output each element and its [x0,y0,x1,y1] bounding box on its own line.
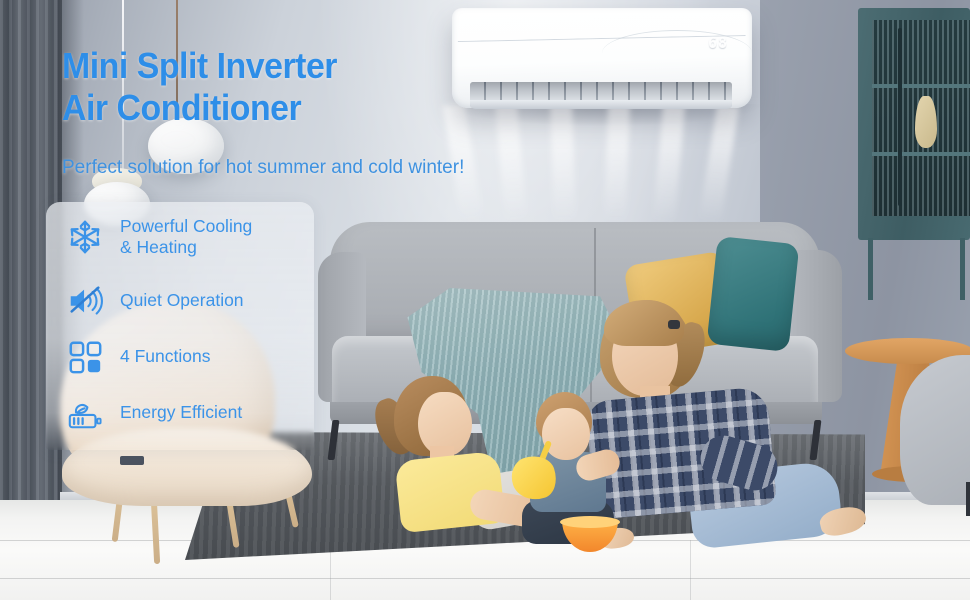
cabinet-handle [898,28,902,206]
cabinet-legs [866,238,966,300]
cabinet-shelf [872,152,970,156]
feature-item-quiet-operation: Quiet Operation [66,282,244,320]
feature-label: Energy Efficient [120,402,242,423]
cream-vase [915,96,937,148]
floor-seam [0,578,970,579]
feature-label: Powerful Cooling & Heating [120,216,252,259]
cabinet-shelf [872,84,970,88]
baby-face [542,408,590,460]
air-conditioner-unit: 68 [452,8,752,108]
floor-seam [690,540,691,600]
four-squares-grid-icon [66,338,104,376]
feature-label: 4 Functions [120,346,210,367]
feature-label: Quiet Operation [120,290,244,311]
product-marketing-banner: 68 Mini Split Inverter Air Conditioner P… [0,0,970,600]
feature-item-energy-efficient: Energy Efficient [66,394,242,432]
orange-bowl-rim [560,516,620,528]
feature-list-panel: Powerful Cooling & Heating Quiet Operati… [46,202,314,450]
headline-line-1: Mini Split Inverter [62,45,494,87]
snowflake-icon [66,218,104,256]
subheadline: Perfect solution for hot summer and cold… [62,157,582,179]
chair-brand-tag [120,456,144,465]
teal-pillow [707,236,800,352]
battery-leaf-icon [66,394,104,432]
feature-item-four-functions: 4 Functions [66,338,210,376]
page-title: Mini Split Inverter Air Conditioner [62,45,494,130]
feature-item-cooling-heating: Powerful Cooling & Heating [66,216,252,259]
ac-unit-louver [470,100,732,109]
armchair-leg [966,482,970,516]
headline-line-2: Air Conditioner [62,87,494,129]
ac-temperature-display: 68 [708,34,728,52]
mother-hair-tie [668,320,680,329]
speaker-mute-icon [66,282,104,320]
